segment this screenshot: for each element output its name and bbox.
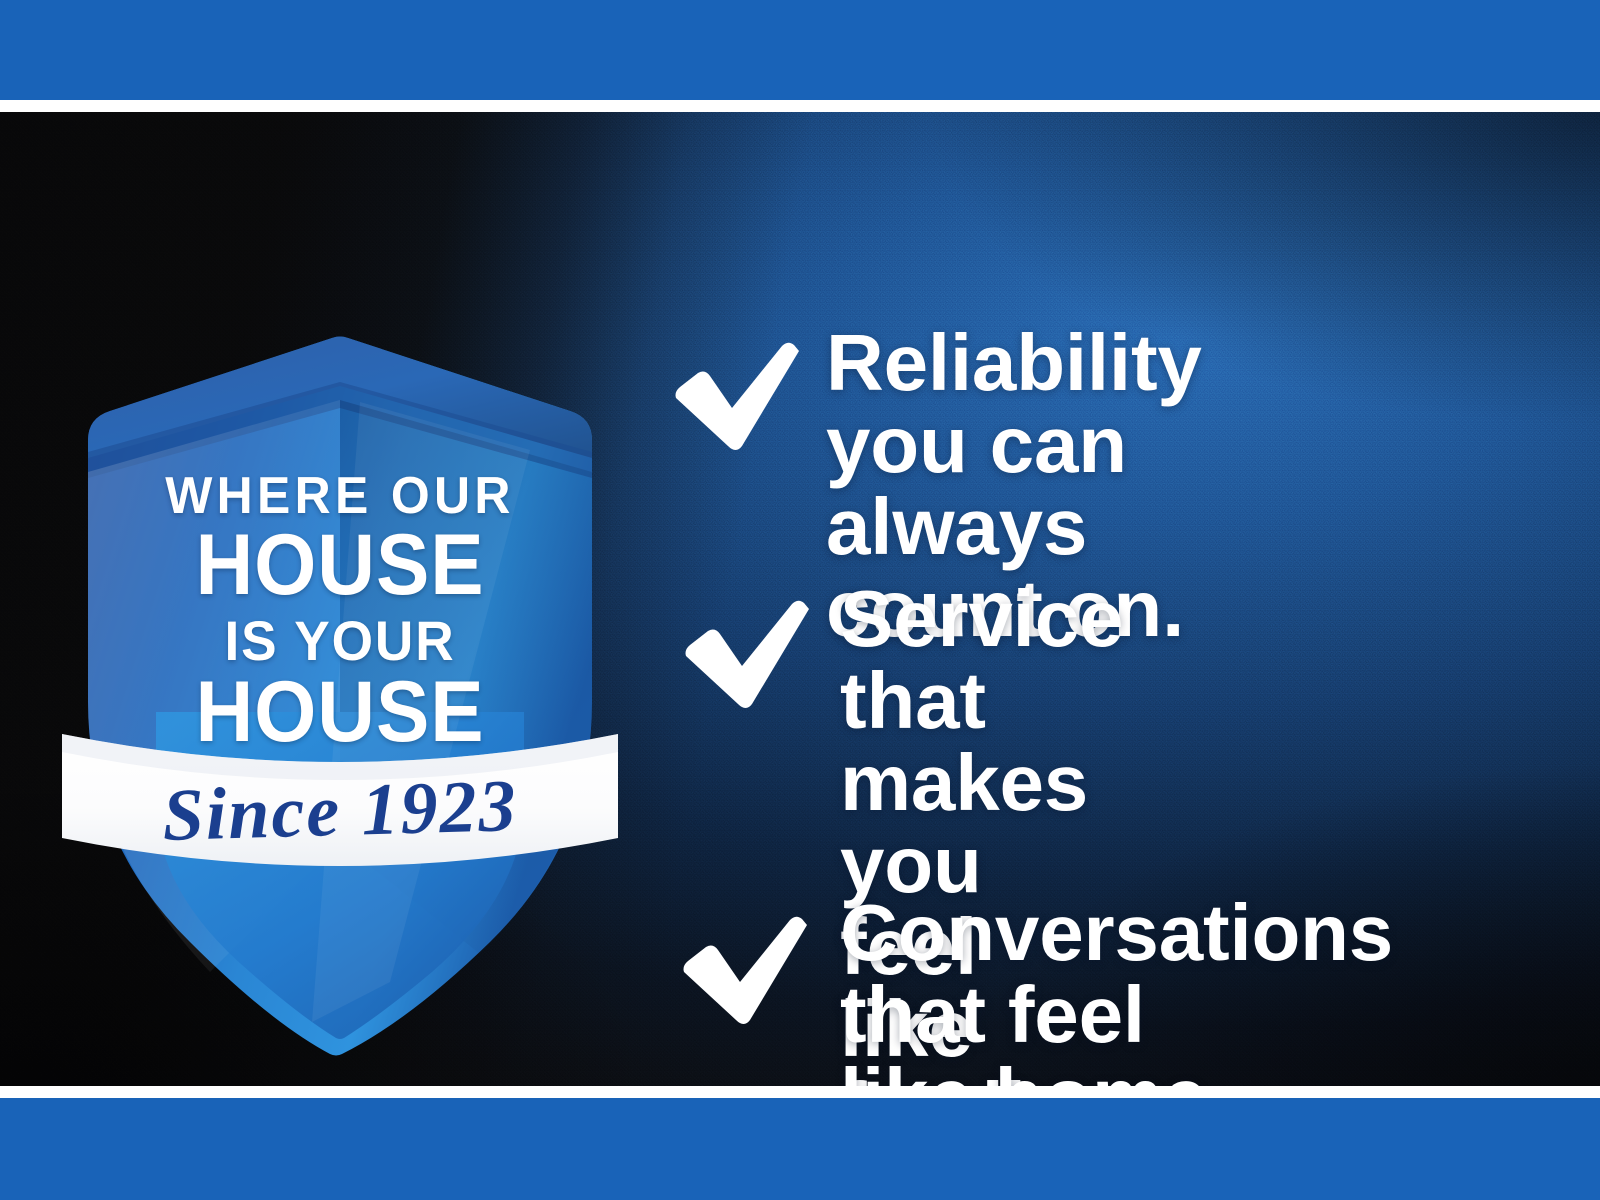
bottom-white-divider [0,1086,1600,1098]
top-white-divider [0,100,1600,112]
badge-line-2: HOUSE [80,522,601,608]
checkmark-icon [678,916,808,1031]
promo-graphic: WHERE OUR HOUSE IS YOUR HOUSE Since 1923… [0,0,1600,1200]
bottom-brand-bar [0,1098,1600,1200]
badge-ribbon-text: Since 1923 [59,766,621,856]
checkmark-icon [670,342,800,457]
badge-line-4: HOUSE [80,669,601,755]
shield-badge: WHERE OUR HOUSE IS YOUR HOUSE Since 1923 [60,282,620,1082]
top-brand-bar [0,0,1600,100]
bullet-text-3: Conversations that feel like home. [840,892,1393,1086]
badge-line-1: WHERE OUR [71,470,609,522]
badge-line-3: IS YOUR [74,613,606,669]
checkmark-icon [680,600,810,715]
main-panel: WHERE OUR HOUSE IS YOUR HOUSE Since 1923… [0,112,1600,1086]
